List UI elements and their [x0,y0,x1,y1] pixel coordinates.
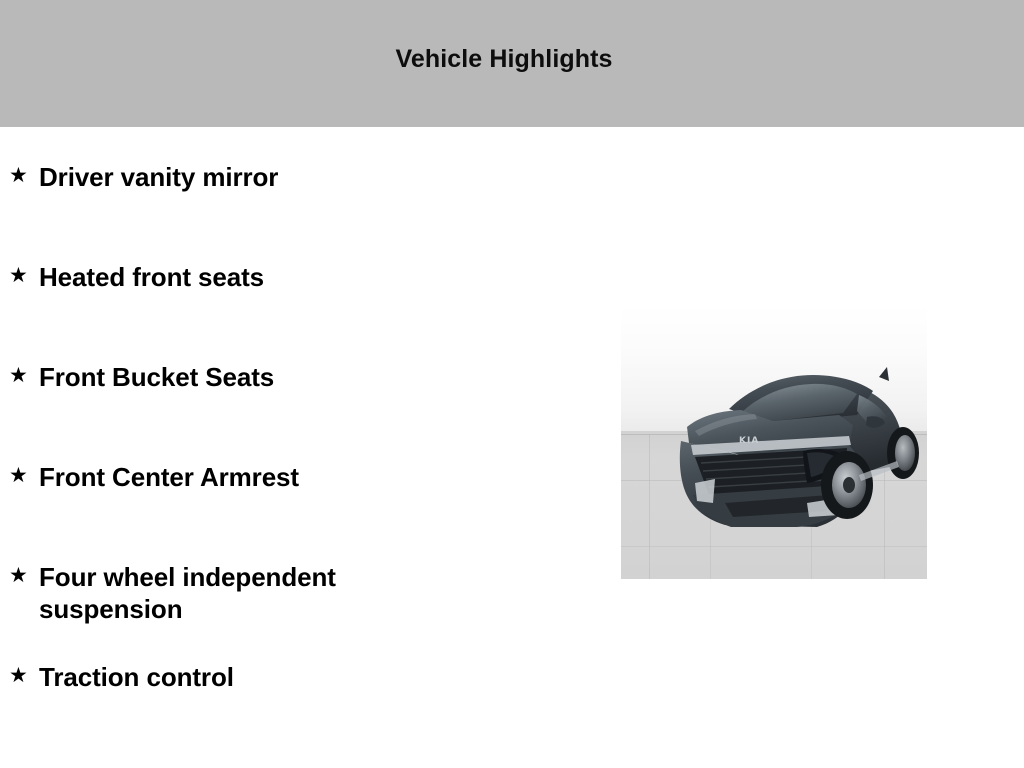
kia-badge: KIA [739,436,759,446]
star-bullet-icon: ★ [9,660,39,690]
highlight-label: Front Center Armrest [39,460,439,493]
list-item: ★ Front Center Armrest [0,460,600,560]
star-bullet-icon: ★ [9,560,39,590]
list-item: ★ Driver vanity mirror [0,127,600,260]
page-header: Vehicle Highlights [0,0,1024,127]
highlight-label: Front Bucket Seats [39,360,439,393]
roof-antenna [879,367,889,381]
bumper-chrome-accent-left [695,479,715,503]
front-wheel-hub [843,477,855,493]
highlight-label: Driver vanity mirror [39,160,439,193]
vehicle-highlights-list: ★ Driver vanity mirror ★ Heated front se… [0,127,600,760]
list-item: ★ Front Bucket Seats [0,360,600,460]
star-bullet-icon: ★ [9,460,39,490]
star-bullet-icon: ★ [9,360,39,390]
highlight-label: Four wheel independent suspension [39,560,439,625]
highlight-label: Traction control [39,660,439,693]
list-item: ★ Four wheel independent suspension [0,560,600,660]
vehicle-illustration: KIA [621,305,927,579]
page-title: Vehicle Highlights [0,47,1016,72]
list-item: ★ Heated front seats [0,260,600,360]
highlight-label: Heated front seats [39,260,439,293]
star-bullet-icon: ★ [9,160,39,190]
star-bullet-icon: ★ [9,260,39,290]
vehicle-photo: KIA [621,305,927,579]
list-item: ★ Traction control [0,660,600,760]
